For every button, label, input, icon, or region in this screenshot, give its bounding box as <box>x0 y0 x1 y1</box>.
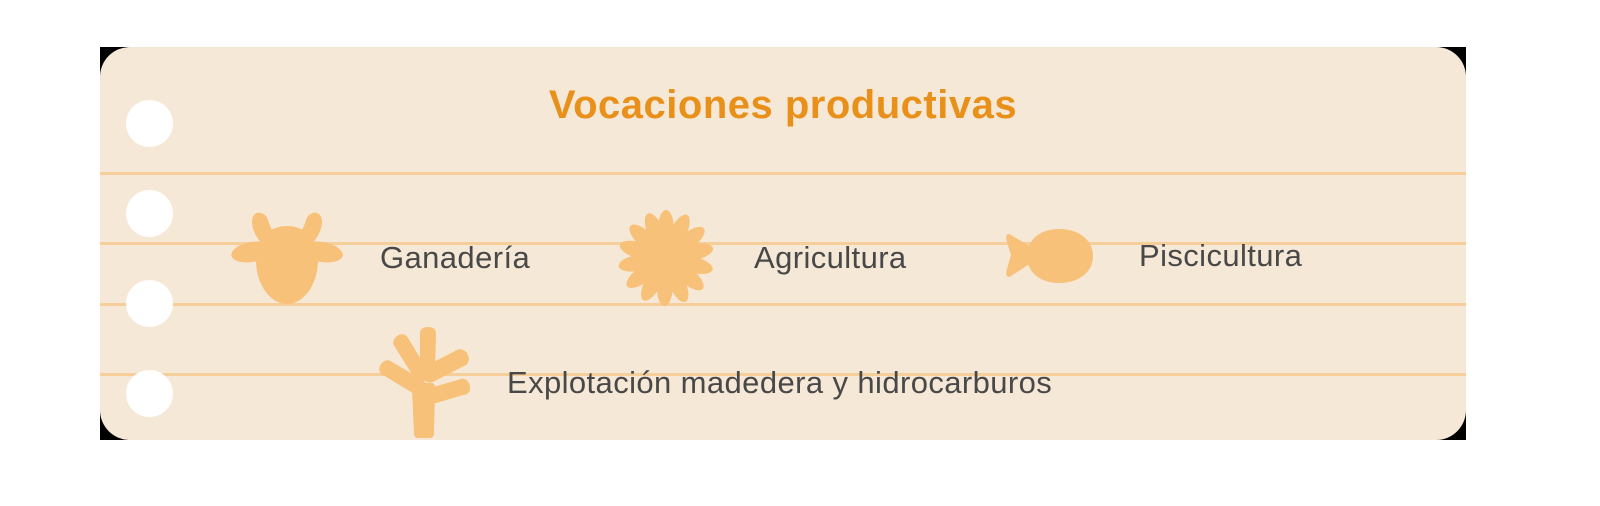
cow-icon <box>232 208 342 308</box>
punch-hole-4 <box>126 370 173 417</box>
rule-line-1 <box>100 172 1466 175</box>
item-ganaderia-label: Ganadería <box>380 240 530 276</box>
tree-icon <box>375 325 475 440</box>
item-explotacion-label: Explotación madedera y hidrocarburos <box>507 365 1052 401</box>
item-ganaderia[interactable]: Ganadería <box>232 208 530 308</box>
slide-canvas: Vocaciones productivas Ganadería <box>0 0 1600 506</box>
item-piscicultura[interactable]: Piscicultura <box>1005 225 1302 287</box>
item-explotacion[interactable]: Explotación madedera y hidrocarburos <box>375 325 1052 440</box>
punch-hole-3 <box>126 280 173 327</box>
item-agricultura[interactable]: Agricultura <box>620 212 907 304</box>
page-title: Vocaciones productivas <box>100 83 1466 128</box>
item-piscicultura-label: Piscicultura <box>1139 238 1302 274</box>
notebook-card: Vocaciones productivas Ganadería <box>100 47 1466 440</box>
fish-icon <box>1005 225 1097 287</box>
punch-hole-1 <box>126 100 173 147</box>
item-agricultura-label: Agricultura <box>754 240 907 276</box>
punch-hole-2 <box>126 190 173 237</box>
flower-icon <box>620 212 712 304</box>
